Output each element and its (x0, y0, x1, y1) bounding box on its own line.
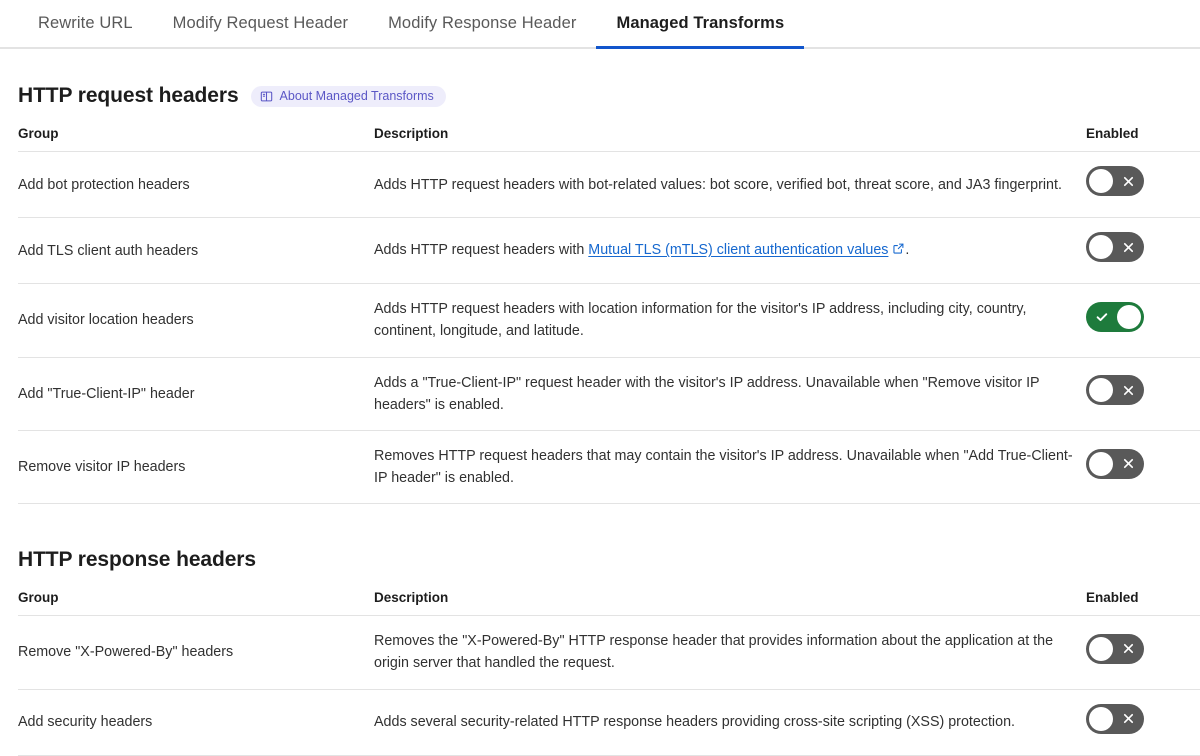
spacer-top (0, 49, 1200, 84)
row-description: Removes the "X-Powered-By" HTTP response… (374, 616, 1086, 689)
tab-modify-request-header[interactable]: Modify Request Header (153, 0, 368, 47)
toggle-knob (1089, 707, 1113, 731)
request-section-header: HTTP request headers About Managed Trans… (18, 84, 1182, 108)
http-response-headers-section: HTTP response headers Group Description … (0, 548, 1200, 755)
row-description: Adds a "True-Client-IP" request header w… (374, 357, 1086, 430)
toggle-knob (1117, 305, 1141, 329)
spacer-title-table (18, 108, 1182, 126)
row-enabled-cell (1086, 152, 1200, 218)
request-headers-table: Group Description Enabled Add bot protec… (18, 126, 1200, 504)
row-description: Adds HTTP request headers with Mutual TL… (374, 218, 1086, 284)
table-row: Remove visitor IP headers Removes HTTP r… (18, 430, 1200, 503)
mtls-documentation-link[interactable]: Mutual TLS (mTLS) client authentication … (588, 242, 888, 258)
column-header-group: Group (18, 590, 374, 616)
close-icon (1122, 449, 1135, 479)
table-row: Add TLS client auth headers Adds HTTP re… (18, 218, 1200, 284)
row-group-label: Remove "X-Powered-By" headers (18, 616, 374, 689)
external-link-icon[interactable] (892, 240, 905, 262)
page-title-response: HTTP response headers (18, 548, 1182, 572)
http-request-headers-section: HTTP request headers About Managed Trans… (0, 84, 1200, 504)
row-enabled-cell (1086, 430, 1200, 503)
close-icon (1122, 634, 1135, 664)
close-icon (1122, 166, 1135, 196)
toggle-add-true-client-ip-header[interactable] (1086, 375, 1144, 405)
book-icon (260, 90, 273, 103)
toggle-add-tls-client-auth-headers[interactable] (1086, 232, 1144, 262)
table-row: Add security headers Adds several securi… (18, 689, 1200, 755)
badge-label: About Managed Transforms (280, 90, 434, 103)
description-text-before: Adds HTTP request headers with (374, 242, 588, 258)
toggle-add-visitor-location-headers[interactable] (1086, 302, 1144, 332)
page-title-request: HTTP request headers (18, 84, 239, 108)
close-icon (1122, 704, 1135, 734)
row-description: Adds HTTP request headers with bot-relat… (374, 152, 1086, 218)
toggle-remove-x-powered-by-headers[interactable] (1086, 634, 1144, 664)
column-header-group: Group (18, 126, 374, 152)
close-icon (1122, 375, 1135, 405)
row-group-label: Add visitor location headers (18, 284, 374, 357)
row-enabled-cell (1086, 284, 1200, 357)
row-description: Adds several security-related HTTP respo… (374, 689, 1086, 755)
row-description: Removes HTTP request headers that may co… (374, 430, 1086, 503)
toggle-remove-visitor-ip-headers[interactable] (1086, 449, 1144, 479)
toggle-add-security-headers[interactable] (1086, 704, 1144, 734)
row-enabled-cell (1086, 357, 1200, 430)
close-icon (1122, 232, 1135, 262)
tab-label: Rewrite URL (38, 14, 133, 33)
spacer-between-sections (0, 504, 1200, 548)
check-icon (1095, 302, 1109, 332)
response-headers-table: Group Description Enabled Remove "X-Powe… (18, 590, 1200, 755)
row-group-label: Add TLS client auth headers (18, 218, 374, 284)
column-header-description: Description (374, 126, 1086, 152)
tab-label: Modify Request Header (173, 14, 348, 33)
tab-rewrite-url[interactable]: Rewrite URL (18, 0, 153, 47)
row-description: Adds HTTP request headers with location … (374, 284, 1086, 357)
toggle-add-bot-protection-headers[interactable] (1086, 166, 1144, 196)
tab-label: Managed Transforms (616, 14, 784, 33)
row-enabled-cell (1086, 689, 1200, 755)
table-header-row: Group Description Enabled (18, 126, 1200, 152)
description-text-after: . (905, 242, 909, 258)
row-group-label: Remove visitor IP headers (18, 430, 374, 503)
toggle-knob (1089, 637, 1113, 661)
row-enabled-cell (1086, 218, 1200, 284)
column-header-description: Description (374, 590, 1086, 616)
tab-modify-response-header[interactable]: Modify Response Header (368, 0, 596, 47)
table-row: Add bot protection headers Adds HTTP req… (18, 152, 1200, 218)
row-group-label: Add security headers (18, 689, 374, 755)
table-row: Remove "X-Powered-By" headers Removes th… (18, 616, 1200, 689)
row-enabled-cell (1086, 616, 1200, 689)
table-row: Add visitor location headers Adds HTTP r… (18, 284, 1200, 357)
tab-label: Modify Response Header (388, 14, 576, 33)
toggle-knob (1089, 378, 1113, 402)
row-group-label: Add bot protection headers (18, 152, 374, 218)
column-header-enabled: Enabled (1086, 126, 1200, 152)
row-group-label: Add "True-Client-IP" header (18, 357, 374, 430)
spacer-title-table-2 (18, 572, 1182, 590)
about-managed-transforms-badge[interactable]: About Managed Transforms (251, 86, 446, 107)
column-header-enabled: Enabled (1086, 590, 1200, 616)
toggle-knob (1089, 235, 1113, 259)
tab-bar: Rewrite URL Modify Request Header Modify… (0, 0, 1200, 49)
toggle-knob (1089, 452, 1113, 476)
table-header-row: Group Description Enabled (18, 590, 1200, 616)
toggle-knob (1089, 169, 1113, 193)
table-row: Add "True-Client-IP" header Adds a "True… (18, 357, 1200, 430)
tab-managed-transforms[interactable]: Managed Transforms (596, 0, 804, 47)
